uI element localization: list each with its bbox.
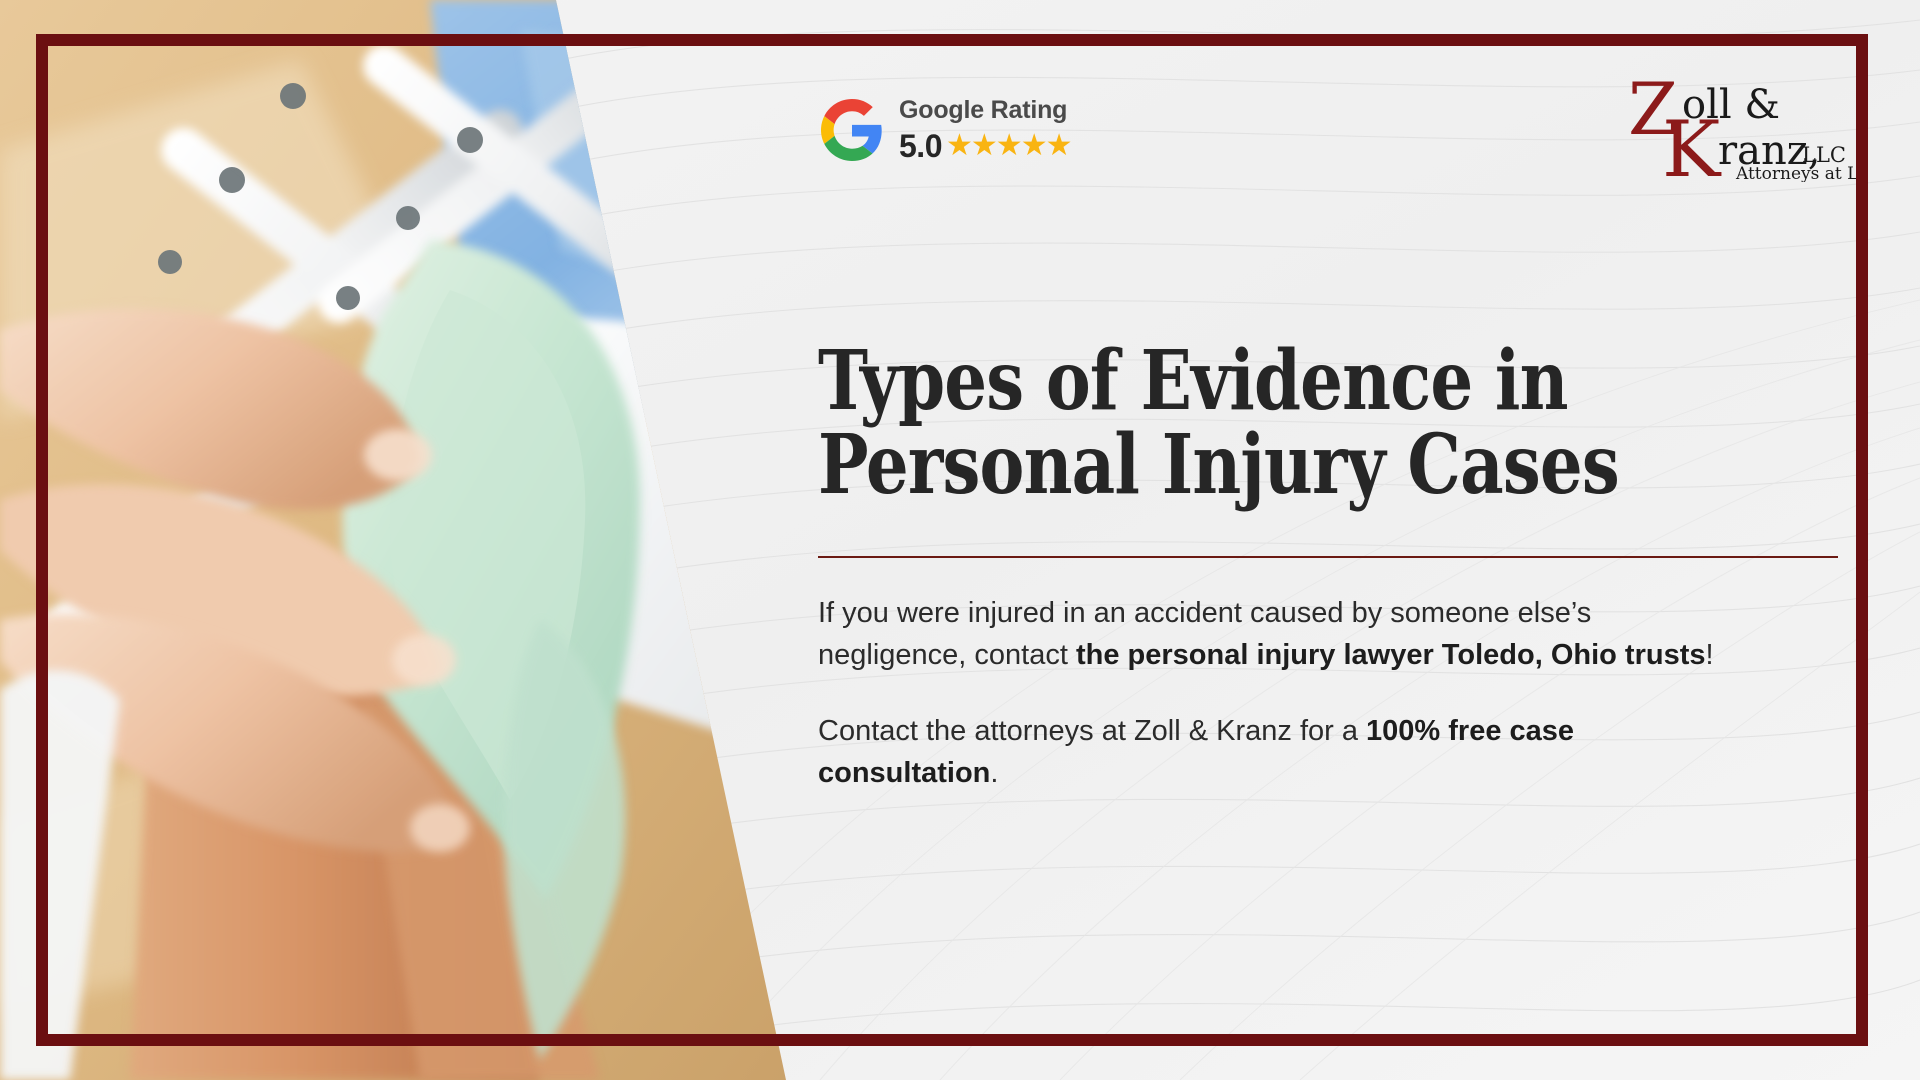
- body-copy: If you were injured in an accident cause…: [818, 592, 1733, 794]
- star-icon: ★: [1021, 131, 1046, 161]
- star-icon: ★: [996, 131, 1021, 161]
- title-divider: [818, 556, 1838, 558]
- google-rating-label: Google Rating: [899, 98, 1071, 123]
- google-g-icon: [821, 99, 883, 161]
- p2-text-after: .: [990, 757, 998, 789]
- paragraph-1: If you were injured in an accident cause…: [818, 592, 1733, 676]
- page-title: Types of Evidence in Personal Injury Cas…: [818, 340, 1679, 507]
- star-icon: ★: [1046, 131, 1071, 161]
- star-icon: ★: [971, 131, 996, 161]
- promo-banner: Google Rating 5.0 ★ ★ ★ ★ ★ Z o: [0, 0, 1920, 1080]
- star-icon: ★: [946, 131, 971, 161]
- logo-monogram-k: K: [1662, 105, 1722, 182]
- p1-emphasis: the personal injury lawyer Toledo, Ohio …: [1076, 639, 1706, 671]
- p1-text-after: !: [1706, 639, 1714, 671]
- firm-logo[interactable]: Z oll & K ranz, LLC Attorneys at Law: [1626, 72, 1856, 182]
- logo-tagline: Attorneys at Law: [1735, 164, 1856, 182]
- google-rating-badge[interactable]: Google Rating 5.0 ★ ★ ★ ★ ★: [821, 98, 1071, 162]
- content-column: Google Rating 5.0 ★ ★ ★ ★ ★ Z o: [818, 0, 1888, 1080]
- google-rating-score: 5.0: [899, 130, 942, 162]
- p2-text-before: Contact the attorneys at Zoll & Kranz fo…: [818, 715, 1366, 747]
- paragraph-2: Contact the attorneys at Zoll & Kranz fo…: [818, 710, 1733, 794]
- headline-line-2: Personal Injury Cases: [818, 424, 1679, 508]
- star-rating: ★ ★ ★ ★ ★: [946, 131, 1071, 161]
- headline-line-1: Types of Evidence in: [818, 340, 1679, 424]
